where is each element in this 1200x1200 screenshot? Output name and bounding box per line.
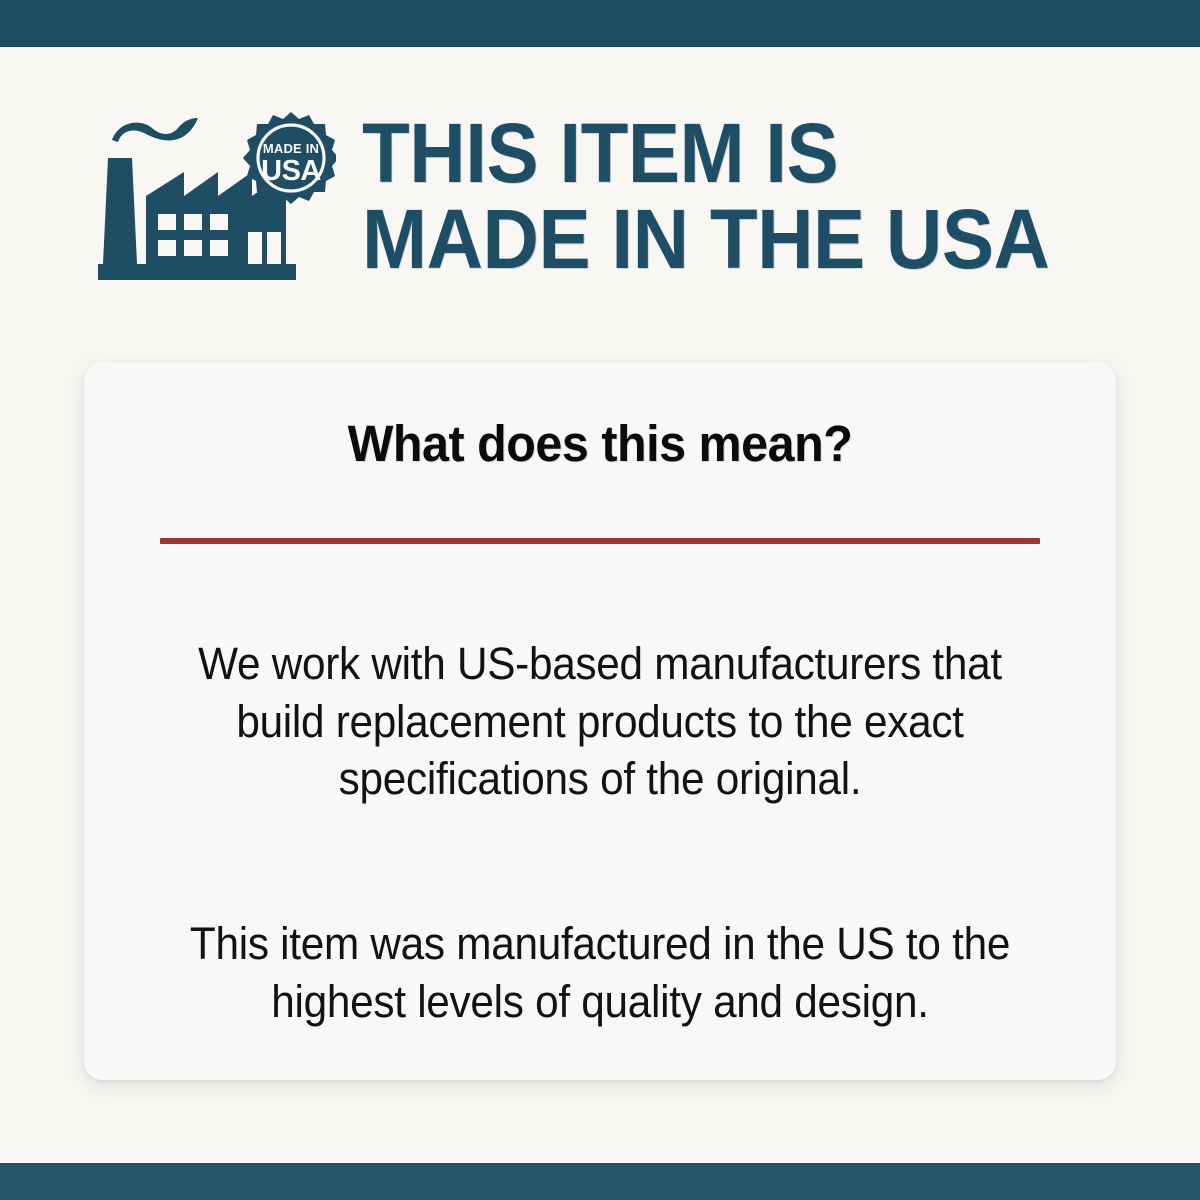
info-card: What does this mean? We work with US-bas… [84, 362, 1116, 1080]
heading-divider [160, 538, 1040, 544]
bottom-accent-bar [0, 1163, 1200, 1200]
header: MADE IN USA THIS ITEM IS MADE IN THE USA [98, 96, 1158, 296]
top-accent-bar [0, 0, 1200, 47]
card-heading: What does this mean? [110, 362, 1090, 473]
made-in-usa-badge-icon: MADE IN USA [243, 112, 336, 204]
header-title-line-1: THIS ITEM IS [362, 112, 1102, 194]
badge-line-1: MADE IN [263, 141, 319, 156]
chimney-icon [103, 158, 137, 264]
page-root: MADE IN USA THIS ITEM IS MADE IN THE USA… [0, 0, 1200, 1200]
card-paragraph-2: This item was manufactured in the US to … [156, 915, 1043, 1030]
card-paragraph-1: We work with US-based manufacturers that… [156, 635, 1043, 808]
header-title-block: THIS ITEM IS MADE IN THE USA [362, 112, 1158, 281]
smoke-plume-icon [112, 118, 198, 142]
badge-line-2: USA [261, 155, 321, 187]
factory-base-icon [98, 264, 296, 280]
made-in-usa-logo: MADE IN USA [98, 104, 336, 289]
header-title-line-2: MADE IN THE USA [362, 198, 1102, 280]
